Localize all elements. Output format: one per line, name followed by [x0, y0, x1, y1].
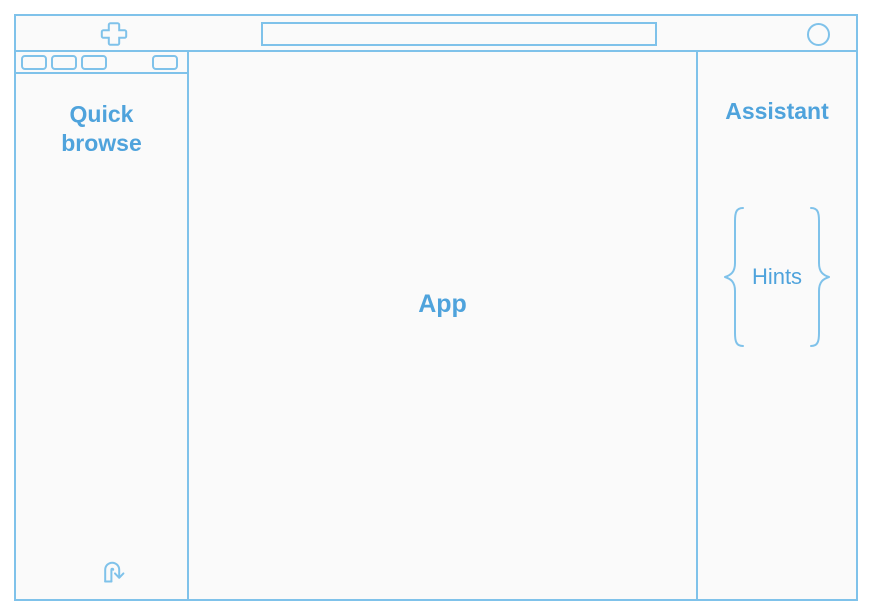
plus-icon[interactable]	[100, 21, 128, 47]
app-window: Quick browse App Assistant	[14, 14, 858, 601]
search-input[interactable]	[263, 24, 655, 44]
u-turn-arrow-icon[interactable]	[100, 557, 128, 585]
tab-chip-2[interactable]	[51, 55, 77, 70]
assistant-title: Assistant	[698, 98, 856, 125]
app-label: App	[189, 52, 696, 599]
left-brace-icon	[722, 205, 748, 349]
hints-block: Hints	[706, 205, 848, 349]
tab-chip-4[interactable]	[152, 55, 178, 70]
tab-chip-3[interactable]	[81, 55, 107, 70]
sidebar-tab-bar	[16, 52, 187, 74]
sidebar-panel: Quick browse	[16, 52, 189, 599]
tab-chip-1[interactable]	[21, 55, 47, 70]
window-body: Quick browse App Assistant	[16, 52, 856, 599]
top-toolbar	[16, 16, 856, 52]
wireframe-canvas: Quick browse App Assistant	[0, 0, 879, 616]
avatar-circle-icon[interactable]	[807, 23, 830, 46]
hints-label: Hints	[748, 264, 806, 290]
sidebar-title: Quick browse	[16, 100, 187, 159]
search-field[interactable]	[261, 22, 657, 46]
right-brace-icon	[806, 205, 832, 349]
assistant-panel: Assistant Hints	[698, 52, 856, 599]
app-canvas: App	[189, 52, 698, 599]
